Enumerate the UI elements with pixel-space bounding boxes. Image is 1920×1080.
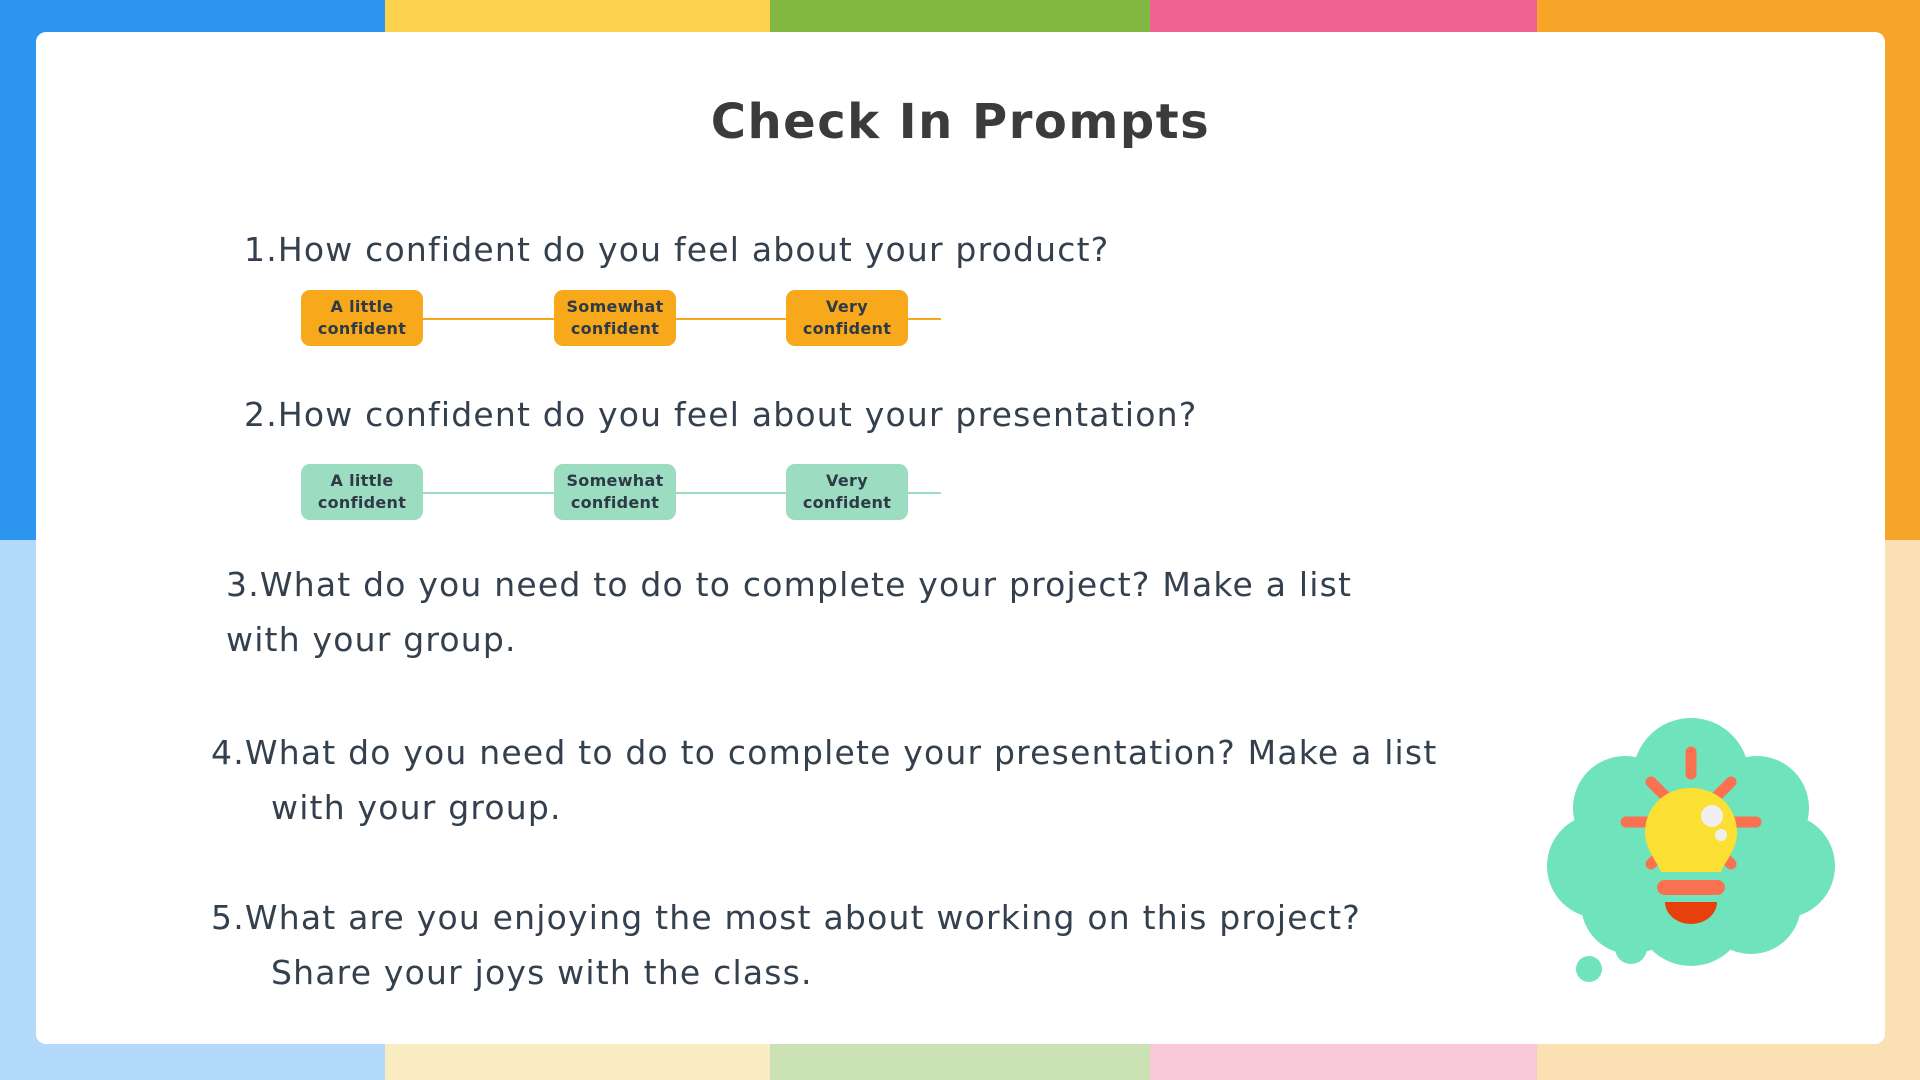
lightbulb-base [1657, 880, 1725, 895]
scale-option-line1: A little [331, 296, 394, 318]
question-item-5: 5.What are you enjoying the most about w… [241, 890, 1451, 1000]
question-number-3: 3. [226, 557, 260, 612]
scale-option-line1: Somewhat [566, 470, 663, 492]
question-item-2: 2.How confident do you feel about your p… [244, 387, 1644, 442]
scale-option-somewhat-confident[interactable]: Somewhat confident [554, 464, 676, 520]
scale-option-a-little-confident[interactable]: A little confident [301, 464, 423, 520]
scale-option-a-little-confident[interactable]: A little confident [301, 290, 423, 346]
scale-option-line2: confident [803, 318, 891, 340]
confidence-scale-product[interactable]: A little confident Somewhat confident Ve… [301, 290, 1001, 348]
slide-canvas: Check In Prompts 1.How confident do you … [0, 0, 1920, 1080]
question-text-2: How confident do you feel about your pre… [278, 395, 1198, 434]
scale-option-somewhat-confident[interactable]: Somewhat confident [554, 290, 676, 346]
question-text-4: What do you need to do to complete your … [245, 733, 1449, 827]
question-item-3: 3.What do you need to do to complete you… [226, 557, 1406, 667]
scale-option-very-confident[interactable]: Very confident [786, 464, 908, 520]
scale-option-line2: confident [571, 318, 659, 340]
scale-option-line2: confident [318, 492, 406, 514]
question-text-1: How confident do you feel about your pro… [278, 230, 1110, 269]
content-card: Check In Prompts 1.How confident do you … [36, 32, 1885, 1044]
scale-option-line2: confident [803, 492, 891, 514]
scale-option-line1: Very [826, 470, 868, 492]
question-item-1: 1.How confident do you feel about your p… [244, 222, 1644, 277]
question-item-4: 4.What do you need to do to complete you… [241, 725, 1451, 835]
question-number-2: 2. [244, 387, 278, 442]
scale-option-line1: A little [331, 470, 394, 492]
scale-option-line2: confident [571, 492, 659, 514]
confidence-scale-presentation[interactable]: A little confident Somewhat confident Ve… [301, 464, 1001, 522]
page-title: Check In Prompts [36, 94, 1885, 150]
scale-option-very-confident[interactable]: Very confident [786, 290, 908, 346]
scale-option-line1: Very [826, 296, 868, 318]
scale-option-line1: Somewhat [566, 296, 663, 318]
scale-option-line2: confident [318, 318, 406, 340]
question-text-3: What do you need to do to complete your … [226, 565, 1364, 659]
lightbulb-glass [1645, 788, 1737, 872]
question-text-5: What are you enjoying the most about wor… [245, 898, 1373, 992]
lightbulb-thought-bubble-icon [1541, 704, 1841, 994]
question-number-1: 1. [244, 222, 278, 277]
